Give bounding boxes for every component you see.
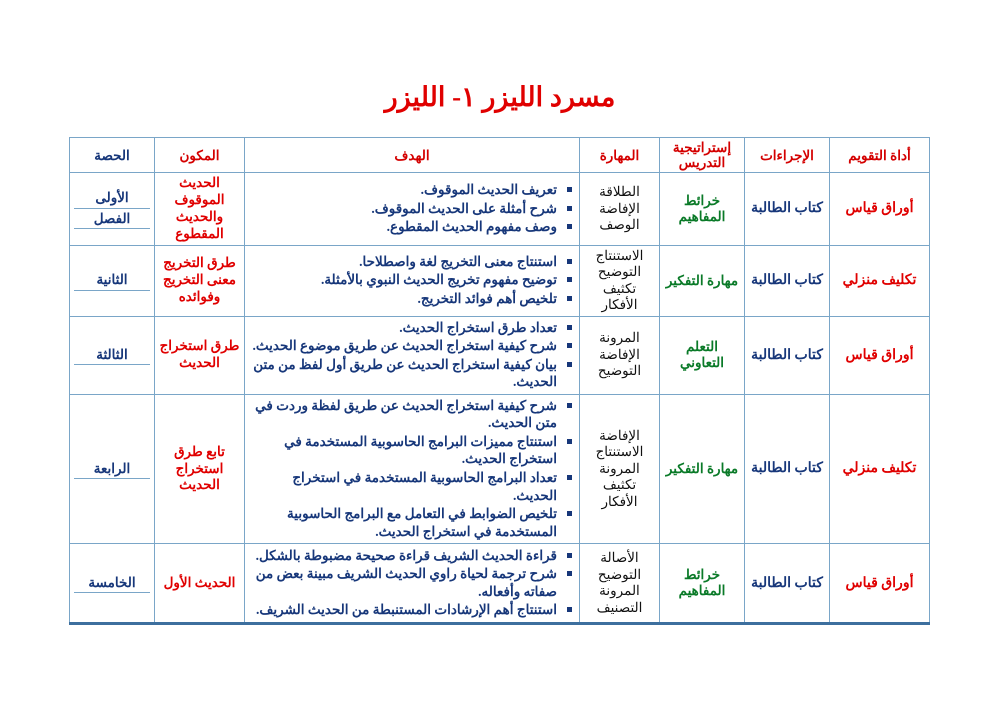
cell-procedures: كتاب الطالبة bbox=[745, 173, 830, 246]
square-bullet-icon bbox=[567, 206, 572, 211]
square-bullet-icon bbox=[567, 259, 572, 264]
skill-line: الإفاضة bbox=[584, 347, 655, 363]
cell-component: طرق التخريج معنى التخريج وفوائده bbox=[155, 245, 245, 316]
skill-line: الإفاضة bbox=[584, 428, 655, 444]
cell-teaching-strategy: مهارة التفكير bbox=[660, 394, 745, 543]
cell-component: تابع طرق استخراج الحديث bbox=[155, 394, 245, 543]
session-number: الخامسة bbox=[74, 573, 150, 594]
document-page: مسرد الليزر ١- الليزر أداة التقويم الإجر… bbox=[0, 0, 1000, 707]
session-stack: الأولىالفصل bbox=[74, 188, 150, 229]
objective-text: تلخيص أهم فوائد التخريج. bbox=[417, 291, 557, 306]
cell-skills: الإفاضةالاستنتاجالمرونةتكثيفالأفكار bbox=[580, 394, 660, 543]
objectives-list: تعريف الحديث الموقوف.شرح أمثلة على الحدي… bbox=[249, 181, 575, 236]
objective-text: توضيح مفهوم تخريج الحديث النبوي بالأمثلة… bbox=[321, 272, 557, 287]
session-stack: الثالثة bbox=[74, 345, 150, 366]
session-number: الرابعة bbox=[74, 459, 150, 480]
table-row: أوراق قياسكتاب الطالبةخرائط المفاهيمالطل… bbox=[70, 173, 930, 246]
cell-skills: الطلاقةالإفاضةالوصف bbox=[580, 173, 660, 246]
cell-objectives: شرح كيفية استخراج الحديث عن طريق لفظة ور… bbox=[245, 394, 580, 543]
table-body: أوراق قياسكتاب الطالبةخرائط المفاهيمالطل… bbox=[70, 173, 930, 624]
session-subtitle: الفصل bbox=[74, 209, 150, 230]
cell-teaching-strategy: مهارة التفكير bbox=[660, 245, 745, 316]
objective-item: تعداد البرامج الحاسوبية المستخدمة في است… bbox=[249, 469, 575, 504]
objective-item: بيان كيفية استخراج الحديث عن طريق أول لف… bbox=[249, 356, 575, 391]
column-header-procedures: الإجراءات bbox=[745, 138, 830, 173]
session-number: الثالثة bbox=[74, 345, 150, 366]
cell-assessment-tool: أوراق قياس bbox=[830, 173, 930, 246]
lesson-plan-table-container: أداة التقويم الإجراءات إستراتيجية التدري… bbox=[70, 137, 930, 625]
objective-text: شرح ترجمة لحياة راوي الحديث الشريف مبينة… bbox=[256, 566, 557, 599]
cell-assessment-tool: أوراق قياس bbox=[830, 544, 930, 624]
session-number: الثانية bbox=[74, 270, 150, 291]
column-header-strategy: إستراتيجية التدريس bbox=[660, 138, 745, 173]
skill-line: الوصف bbox=[584, 217, 655, 233]
objective-text: تعداد البرامج الحاسوبية المستخدمة في است… bbox=[292, 470, 557, 503]
skill-line: التوضيح bbox=[584, 363, 655, 379]
square-bullet-icon bbox=[567, 475, 572, 480]
objective-item: شرح كيفية استخراج الحديث عن طريق لفظة ور… bbox=[249, 397, 575, 432]
skill-line: تكثيف bbox=[584, 477, 655, 493]
objective-text: وصف مفهوم الحديث المقطوع. bbox=[387, 219, 557, 234]
objective-item: وصف مفهوم الحديث المقطوع. bbox=[249, 218, 575, 236]
skill-line: المرونة bbox=[584, 583, 655, 599]
cell-assessment-tool: تكليف منزلي bbox=[830, 394, 930, 543]
square-bullet-icon bbox=[567, 224, 572, 229]
cell-session: الأولىالفصل bbox=[70, 173, 155, 246]
skill-line: الاستنتاج bbox=[584, 444, 655, 460]
cell-component: طرق استخراج الحديث bbox=[155, 316, 245, 394]
cell-objectives: قراءة الحديث الشريف قراءة صحيحة مضبوطة ب… bbox=[245, 544, 580, 624]
table-header-row: أداة التقويم الإجراءات إستراتيجية التدري… bbox=[70, 138, 930, 173]
cell-procedures: كتاب الطالبة bbox=[745, 544, 830, 624]
square-bullet-icon bbox=[567, 325, 572, 330]
square-bullet-icon bbox=[567, 403, 572, 408]
cell-skills: الاستنتاجالتوضيحتكثيفالأفكار bbox=[580, 245, 660, 316]
cell-teaching-strategy: خرائط المفاهيم bbox=[660, 544, 745, 624]
skill-line: الأفكار bbox=[584, 297, 655, 313]
skill-line: الاستنتاج bbox=[584, 248, 655, 264]
objective-text: شرح كيفية استخراج الحديث عن طريق لفظة ور… bbox=[255, 398, 557, 431]
objective-item: تعداد طرق استخراج الحديث. bbox=[249, 319, 575, 337]
cell-procedures: كتاب الطالبة bbox=[745, 245, 830, 316]
objectives-list: شرح كيفية استخراج الحديث عن طريق لفظة ور… bbox=[249, 397, 575, 540]
page-title: مسرد الليزر ١- الليزر bbox=[0, 82, 1000, 113]
skill-line: الإفاضة bbox=[584, 201, 655, 217]
session-stack: الثانية bbox=[74, 270, 150, 291]
column-header-session: الحصة bbox=[70, 138, 155, 173]
cell-objectives: تعداد طرق استخراج الحديث.شرح كيفية استخر… bbox=[245, 316, 580, 394]
skill-line: الأصالة bbox=[584, 550, 655, 566]
table-header: أداة التقويم الإجراءات إستراتيجية التدري… bbox=[70, 138, 930, 173]
skill-line: التوضيح bbox=[584, 567, 655, 583]
lesson-plan-table: أداة التقويم الإجراءات إستراتيجية التدري… bbox=[69, 137, 930, 625]
column-header-goal: الهدف bbox=[245, 138, 580, 173]
column-header-tool: أداة التقويم bbox=[830, 138, 930, 173]
objective-item: تلخيص أهم فوائد التخريج. bbox=[249, 290, 575, 308]
square-bullet-icon bbox=[567, 343, 572, 348]
table-row: تكليف منزليكتاب الطالبةمهارة التفكيرالإف… bbox=[70, 394, 930, 543]
objective-item: شرح ترجمة لحياة راوي الحديث الشريف مبينة… bbox=[249, 565, 575, 600]
square-bullet-icon bbox=[567, 553, 572, 558]
objective-item: استنتاج أهم الإرشادات المستنبطة من الحدي… bbox=[249, 601, 575, 619]
cell-session: الثانية bbox=[70, 245, 155, 316]
objective-item: توضيح مفهوم تخريج الحديث النبوي بالأمثلة… bbox=[249, 271, 575, 289]
objective-text: استنتاج أهم الإرشادات المستنبطة من الحدي… bbox=[256, 602, 557, 617]
skill-line: التصنيف bbox=[584, 600, 655, 616]
objective-text: شرح أمثلة على الحديث الموقوف. bbox=[371, 201, 557, 216]
square-bullet-icon bbox=[567, 571, 572, 576]
square-bullet-icon bbox=[567, 296, 572, 301]
cell-teaching-strategy: خرائط المفاهيم bbox=[660, 173, 745, 246]
cell-session: الرابعة bbox=[70, 394, 155, 543]
cell-objectives: استنتاج معنى التخريج لغة واصطلاحا.توضيح … bbox=[245, 245, 580, 316]
square-bullet-icon bbox=[567, 277, 572, 282]
skill-line: المرونة bbox=[584, 461, 655, 477]
objective-text: بيان كيفية استخراج الحديث عن طريق أول لف… bbox=[253, 357, 557, 390]
objective-text: تلخيص الضوابط في التعامل مع البرامج الحا… bbox=[287, 506, 557, 539]
cell-objectives: تعريف الحديث الموقوف.شرح أمثلة على الحدي… bbox=[245, 173, 580, 246]
table-row: أوراق قياسكتاب الطالبةخرائط المفاهيمالأص… bbox=[70, 544, 930, 624]
table-row: أوراق قياسكتاب الطالبةالتعلم التعاونيالم… bbox=[70, 316, 930, 394]
column-header-skill: المهارة bbox=[580, 138, 660, 173]
skill-line: الطلاقة bbox=[584, 184, 655, 200]
square-bullet-icon bbox=[567, 511, 572, 516]
cell-teaching-strategy: التعلم التعاوني bbox=[660, 316, 745, 394]
square-bullet-icon bbox=[567, 187, 572, 192]
square-bullet-icon bbox=[567, 607, 572, 612]
objective-item: شرح أمثلة على الحديث الموقوف. bbox=[249, 200, 575, 218]
square-bullet-icon bbox=[567, 439, 572, 444]
objective-text: استنتاج مميزات البرامج الحاسوبية المستخد… bbox=[284, 434, 557, 467]
session-stack: الخامسة bbox=[74, 573, 150, 594]
skill-line: الأفكار bbox=[584, 494, 655, 510]
session-number: الأولى bbox=[74, 188, 150, 209]
cell-session: الخامسة bbox=[70, 544, 155, 624]
cell-session: الثالثة bbox=[70, 316, 155, 394]
table-row: تكليف منزليكتاب الطالبةمهارة التفكيرالاس… bbox=[70, 245, 930, 316]
objective-item: تعريف الحديث الموقوف. bbox=[249, 181, 575, 199]
skill-line: تكثيف bbox=[584, 281, 655, 297]
objectives-list: قراءة الحديث الشريف قراءة صحيحة مضبوطة ب… bbox=[249, 547, 575, 619]
objective-text: تعداد طرق استخراج الحديث. bbox=[399, 320, 557, 335]
cell-skills: الأصالةالتوضيحالمرونةالتصنيف bbox=[580, 544, 660, 624]
objectives-list: استنتاج معنى التخريج لغة واصطلاحا.توضيح … bbox=[249, 253, 575, 308]
cell-procedures: كتاب الطالبة bbox=[745, 394, 830, 543]
square-bullet-icon bbox=[567, 362, 572, 367]
objective-item: استنتاج معنى التخريج لغة واصطلاحا. bbox=[249, 253, 575, 271]
cell-assessment-tool: أوراق قياس bbox=[830, 316, 930, 394]
cell-component: الحديث الموقوف والحديث المقطوع bbox=[155, 173, 245, 246]
objective-item: شرح كيفية استخراج الحديث عن طريق موضوع ا… bbox=[249, 337, 575, 355]
skill-line: التوضيح bbox=[584, 264, 655, 280]
objectives-list: تعداد طرق استخراج الحديث.شرح كيفية استخر… bbox=[249, 319, 575, 391]
cell-assessment-tool: تكليف منزلي bbox=[830, 245, 930, 316]
objective-text: تعريف الحديث الموقوف. bbox=[421, 182, 557, 197]
cell-component: الحديث الأول bbox=[155, 544, 245, 624]
column-header-component: المكون bbox=[155, 138, 245, 173]
objective-item: استنتاج مميزات البرامج الحاسوبية المستخد… bbox=[249, 433, 575, 468]
objective-item: تلخيص الضوابط في التعامل مع البرامج الحا… bbox=[249, 505, 575, 540]
objective-text: استنتاج معنى التخريج لغة واصطلاحا. bbox=[359, 254, 557, 269]
objective-text: شرح كيفية استخراج الحديث عن طريق موضوع ا… bbox=[253, 338, 557, 353]
objective-item: قراءة الحديث الشريف قراءة صحيحة مضبوطة ب… bbox=[249, 547, 575, 565]
cell-skills: المرونةالإفاضةالتوضيح bbox=[580, 316, 660, 394]
session-stack: الرابعة bbox=[74, 459, 150, 480]
objective-text: قراءة الحديث الشريف قراءة صحيحة مضبوطة ب… bbox=[256, 548, 557, 563]
skill-line: المرونة bbox=[584, 330, 655, 346]
cell-procedures: كتاب الطالبة bbox=[745, 316, 830, 394]
